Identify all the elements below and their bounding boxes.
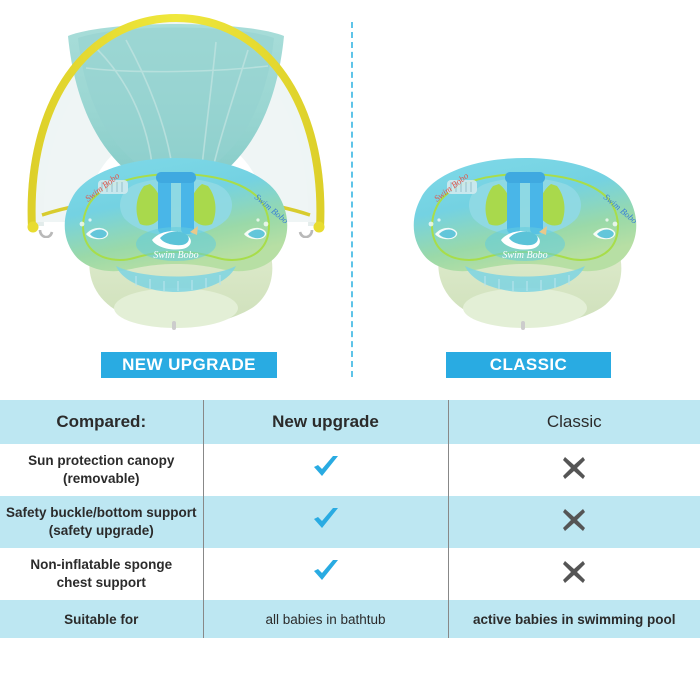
feature-label: Suitable for <box>0 600 203 638</box>
baby-float-ring-classic: Swim Bobo Swim Bobo Swim Bobo <box>389 140 661 330</box>
feature-line-2: (safety upgrade) <box>0 522 203 540</box>
cell-new-upgrade <box>203 444 448 496</box>
product-showcase: Swim Bobo Swim Bobo Swim Bobo <box>0 0 700 400</box>
cross-icon <box>561 507 587 533</box>
header-classic: Classic <box>448 400 700 444</box>
feature-line-1: Safety buckle/bottom support <box>0 504 203 522</box>
cell-new-upgrade <box>203 548 448 600</box>
cell-new-upgrade: all babies in bathtub <box>203 600 448 638</box>
check-icon <box>311 558 341 586</box>
header-compared: Compared: <box>0 400 203 444</box>
feature-label: Non-inflatable sponge chest support <box>0 548 203 600</box>
header-new-upgrade: New upgrade <box>203 400 448 444</box>
badge-new-upgrade: NEW UPGRADE <box>101 352 277 378</box>
product-new-upgrade: Swim Bobo Swim Bobo Swim Bobo <box>0 0 351 400</box>
table-row: Safety buckle/bottom support (safety upg… <box>0 496 700 548</box>
feature-line-2: chest support <box>0 574 203 592</box>
table-header-row: Compared: New upgrade Classic <box>0 400 700 444</box>
comparison-table: Compared: New upgrade Classic Sun protec… <box>0 400 700 638</box>
feature-label: Sun protection canopy (removable) <box>0 444 203 496</box>
svg-text:Swim Bobo: Swim Bobo <box>502 250 547 261</box>
cell-classic <box>448 548 700 600</box>
svg-text:Swim Bobo: Swim Bobo <box>153 250 198 261</box>
feature-line-2: (removable) <box>0 470 203 488</box>
table-row: Non-inflatable sponge chest support <box>0 548 700 600</box>
cell-new-upgrade <box>203 496 448 548</box>
table-row: Sun protection canopy (removable) <box>0 444 700 496</box>
product-classic: Swim Bobo Swim Bobo Swim Bobo <box>351 0 700 400</box>
badge-classic: CLASSIC <box>446 352 611 378</box>
baby-float-ring-new: Swim Bobo Swim Bobo Swim Bobo <box>40 140 312 330</box>
table-row-suitable-for: Suitable for all babies in bathtub activ… <box>0 600 700 638</box>
cross-icon <box>561 559 587 585</box>
cell-classic <box>448 496 700 548</box>
check-icon <box>311 454 341 482</box>
cell-classic: active babies in swimming pool <box>448 600 700 638</box>
feature-label: Safety buckle/bottom support (safety upg… <box>0 496 203 548</box>
cross-icon <box>561 455 587 481</box>
cell-classic <box>448 444 700 496</box>
check-icon <box>311 506 341 534</box>
feature-line-1: Non-inflatable sponge <box>0 556 203 574</box>
feature-line-1: Sun protection canopy <box>0 452 203 470</box>
